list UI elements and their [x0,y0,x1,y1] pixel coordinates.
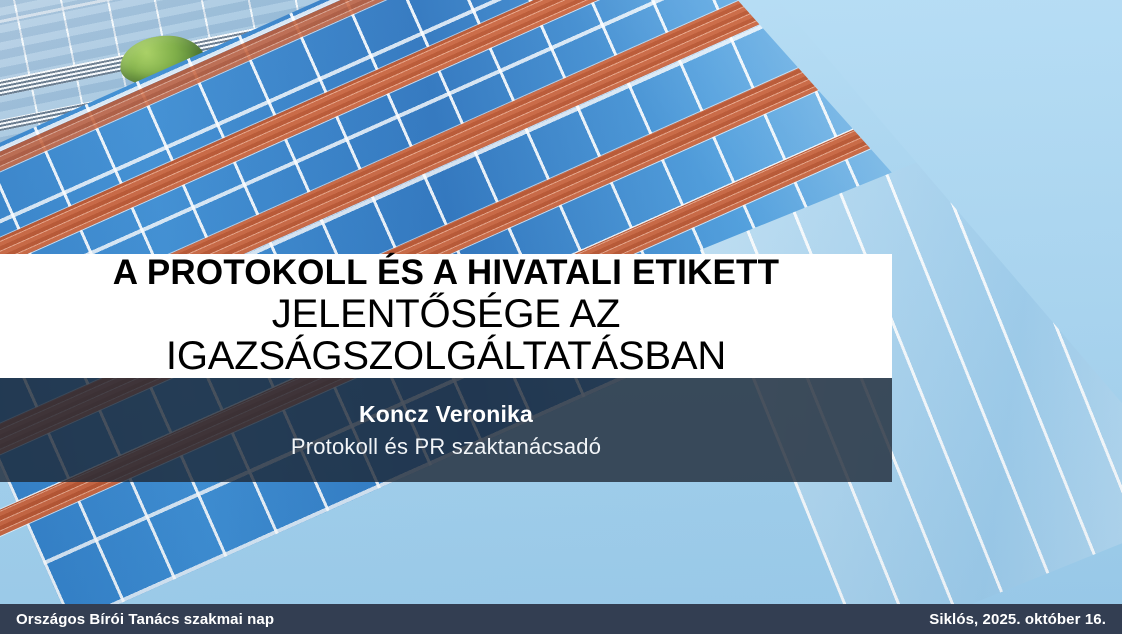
title-line-2: JELENTŐSÉGE AZ IGAZSÁGSZOLGÁLTATÁSBAN [0,293,892,377]
title-box: A PROTOKOLL ÉS A HIVATALI ETIKETT JELENT… [0,254,892,378]
subtitle-box: Koncz Veronika Protokoll és PR szaktanác… [0,378,892,482]
footer-bar: Országos Bírói Tanács szakmai nap Siklós… [0,604,1122,634]
speaker-role: Protokoll és PR szaktanácsadó [291,434,601,460]
speaker-name: Koncz Veronika [359,401,533,428]
footer-event-name: Országos Bírói Tanács szakmai nap [16,611,274,628]
footer-place-date: Siklós, 2025. október 16. [929,611,1106,628]
presentation-slide: A PROTOKOLL ÉS A HIVATALI ETIKETT JELENT… [0,0,1122,634]
title-line-1: A PROTOKOLL ÉS A HIVATALI ETIKETT [0,255,892,294]
